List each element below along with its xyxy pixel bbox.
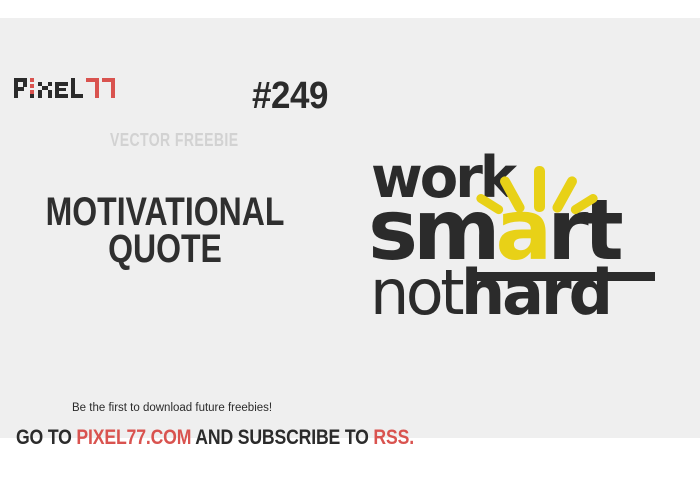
cta-middle: AND SUBSCRIBE TO <box>191 426 373 449</box>
cta-prefix: GO TO <box>16 426 76 449</box>
cta-rss-link[interactable]: RSS. <box>373 426 414 449</box>
logo-digit-seven-2 <box>102 78 115 98</box>
page-title: MOTIVATIONAL QUOTE <box>0 194 330 268</box>
logo-letter-i <box>30 78 35 98</box>
logo-letter-p <box>14 78 27 98</box>
sunburst-ray-3 <box>534 166 545 212</box>
category-eyebrow: VECTOR FREEBIE <box>110 130 238 151</box>
screenshot-canvas: PIXEL77 <box>0 0 700 490</box>
page-title-line-2: QUOTE <box>33 231 297 268</box>
artwork-line-not-hard: nothard <box>370 262 610 324</box>
page-title-line-1: MOTIVATIONAL <box>33 194 297 231</box>
pixel77-logo[interactable]: PIXEL77 <box>14 76 115 98</box>
logo-letter-e <box>55 78 68 98</box>
cta-domain-link[interactable]: PIXEL77.COM <box>76 426 191 449</box>
logo-digit-seven-1 <box>86 78 99 98</box>
work-smart-not-hard-artwork: work smart nothard <box>368 150 668 330</box>
promo-text: Be the first to download future freebies… <box>72 402 272 414</box>
freebie-sheet: PIXEL77 <box>0 18 700 438</box>
logo-letter-l <box>71 78 83 98</box>
artwork-word-hard: hard <box>461 256 610 329</box>
artwork-word-not: not <box>370 256 461 329</box>
logo-letter-x <box>38 78 52 98</box>
sunburst-icon <box>494 156 580 212</box>
cta-line: GO TO PIXEL77.COM AND SUBSCRIBE TO RSS. <box>16 426 414 450</box>
issue-number: #249 <box>252 75 328 118</box>
